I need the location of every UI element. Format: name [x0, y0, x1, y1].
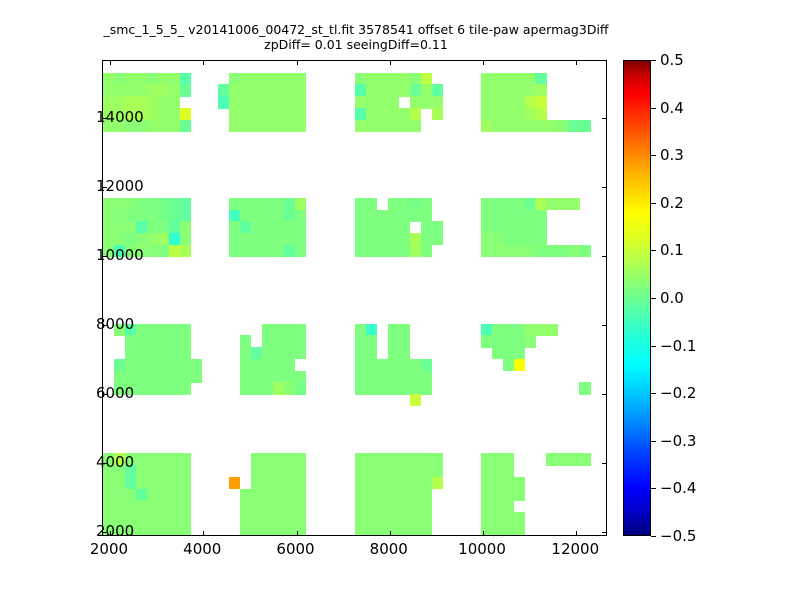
heatmap-cell [377, 359, 389, 371]
heatmap-cell [421, 210, 433, 222]
heatmap-cell [535, 120, 547, 132]
heatmap-cell [388, 477, 400, 489]
heatmap-cell [284, 324, 296, 336]
heatmap-cell [366, 73, 378, 85]
heatmap-cell [492, 73, 504, 85]
heatmap-cell [136, 477, 148, 489]
heatmap-cell [399, 371, 411, 383]
heatmap-cell [169, 524, 181, 536]
heatmap-cell [568, 120, 580, 132]
heatmap-cell [388, 120, 400, 132]
heatmap-cell [262, 210, 274, 222]
heatmap-cell [147, 477, 159, 489]
heatmap-cell [355, 359, 367, 371]
heatmap-cell [503, 347, 515, 359]
heatmap-cell [355, 233, 367, 245]
heatmap-cell [136, 465, 148, 477]
heatmap-cell [421, 221, 433, 233]
heatmap-cell [136, 489, 148, 501]
heatmap-cell [366, 347, 378, 359]
heatmap-cell [136, 84, 148, 96]
heatmap-cell [492, 84, 504, 96]
heatmap-cell [492, 96, 504, 108]
heatmap-cell [147, 371, 159, 383]
heatmap-cell [481, 489, 493, 501]
heatmap-cell [229, 84, 241, 96]
heatmap-cell [169, 359, 181, 371]
heatmap-cell [284, 198, 296, 210]
y-axis-tick [602, 256, 606, 257]
heatmap-cell [399, 245, 411, 257]
heatmap-cell [503, 73, 515, 85]
heatmap-cell [158, 465, 170, 477]
heatmap-cell [284, 524, 296, 536]
heatmap-cell [410, 210, 422, 222]
colorbar-tick-label: −0.4 [660, 479, 696, 497]
heatmap-cell [158, 96, 170, 108]
heatmap-cell [355, 84, 367, 96]
heatmap-cell [399, 382, 411, 394]
heatmap-cell [284, 84, 296, 96]
heatmap-cell [158, 84, 170, 96]
heatmap-cell [492, 198, 504, 210]
heatmap-cell [295, 453, 307, 465]
heatmap-cell [284, 382, 296, 394]
heatmap-cell [273, 347, 285, 359]
heatmap-cell [180, 108, 192, 120]
heatmap-cell [399, 108, 411, 120]
heatmap-cell [355, 524, 367, 536]
x-axis-tick-label: 2000 [90, 540, 128, 558]
heatmap-cell [377, 500, 389, 512]
heatmap-cell [514, 233, 526, 245]
colorbar-tick [651, 155, 656, 156]
heatmap-cell [284, 120, 296, 132]
heatmap-cell [377, 221, 389, 233]
heatmap-cell [355, 477, 367, 489]
heatmap-cell [388, 96, 400, 108]
heatmap-cell [481, 500, 493, 512]
heatmap-cell [251, 120, 263, 132]
heatmap-cell [355, 245, 367, 257]
heatmap-cell [180, 210, 192, 222]
heatmap-cell [492, 233, 504, 245]
heatmap-cell [410, 477, 422, 489]
heatmap-cell [514, 489, 526, 501]
heatmap-cell [503, 96, 515, 108]
heatmap-cell [229, 108, 241, 120]
heatmap-cell [262, 324, 274, 336]
colorbar-tick [651, 250, 656, 251]
heatmap-cell [535, 96, 547, 108]
heatmap-cell [229, 477, 241, 489]
heatmap-cell [240, 512, 252, 524]
heatmap-cell [366, 324, 378, 336]
heatmap-cell [525, 335, 537, 347]
heatmap-cell [295, 489, 307, 501]
x-axis-tick [576, 531, 577, 535]
heatmap-cell [136, 335, 148, 347]
colorbar-tick-label: 0.2 [660, 194, 684, 212]
heatmap-cell [366, 477, 378, 489]
heatmap-cell [355, 73, 367, 85]
heatmap-cell [251, 477, 263, 489]
heatmap-cell [388, 108, 400, 120]
heatmap-cell [514, 477, 526, 489]
heatmap-cell [432, 233, 444, 245]
heatmap-cell [229, 120, 241, 132]
colorbar-tick-label: −0.5 [660, 527, 696, 545]
heatmap-cell [262, 233, 274, 245]
heatmap-cell [399, 500, 411, 512]
heatmap-cell [240, 221, 252, 233]
x-axis-tick [297, 61, 298, 65]
x-axis-tick-label: 10000 [458, 540, 506, 558]
heatmap-cell [503, 324, 515, 336]
heatmap-cell [147, 73, 159, 85]
heatmap-cell [125, 233, 137, 245]
heatmap-cell [147, 465, 159, 477]
heatmap-cell [284, 371, 296, 383]
heatmap-cell [568, 198, 580, 210]
heatmap-cell [421, 198, 433, 210]
heatmap-cell [366, 233, 378, 245]
heatmap-cell [251, 245, 263, 257]
heatmap-cell [240, 73, 252, 85]
heatmap-cell [568, 453, 580, 465]
heatmap-cell [399, 465, 411, 477]
heatmap-cell [492, 512, 504, 524]
heatmap-cell [147, 233, 159, 245]
heatmap-cell [284, 359, 296, 371]
heatmap-cell [262, 382, 274, 394]
heatmap-cell [103, 233, 115, 245]
heatmap-cell [481, 245, 493, 257]
heatmap-cell [251, 371, 263, 383]
heatmap-cell [251, 108, 263, 120]
colorbar-tick-label: −0.1 [660, 337, 696, 355]
heatmap-cell [114, 371, 126, 383]
colorbar-tick [651, 108, 656, 109]
heatmap-cell [388, 359, 400, 371]
heatmap-cell [388, 512, 400, 524]
heatmap-cell [377, 84, 389, 96]
heatmap-cell [218, 96, 230, 108]
heatmap-cell [147, 347, 159, 359]
heatmap-cell [147, 120, 159, 132]
heatmap-cell [147, 453, 159, 465]
heatmap-cell [158, 347, 170, 359]
heatmap-cell [492, 500, 504, 512]
heatmap-axes [102, 60, 607, 536]
colorbar: −0.5−0.4−0.3−0.2−0.10.00.10.20.30.40.5 [623, 60, 651, 536]
heatmap-cell [525, 108, 537, 120]
colorbar-tick [651, 536, 656, 537]
heatmap-cell [169, 108, 181, 120]
heatmap-cell [399, 198, 411, 210]
heatmap-cell [191, 371, 203, 383]
heatmap-cell [240, 382, 252, 394]
heatmap-cell [169, 335, 181, 347]
heatmap-cell [295, 108, 307, 120]
heatmap-cell [125, 489, 137, 501]
heatmap-cell [180, 489, 192, 501]
heatmap-cell [525, 96, 537, 108]
heatmap-cell [535, 245, 547, 257]
heatmap-cell [273, 524, 285, 536]
heatmap-cell [136, 512, 148, 524]
heatmap-cell [355, 500, 367, 512]
heatmap-cell [169, 477, 181, 489]
heatmap-cell [503, 245, 515, 257]
heatmap-cell [229, 73, 241, 85]
heatmap-cell [514, 512, 526, 524]
heatmap-cell [366, 453, 378, 465]
heatmap-cell [284, 233, 296, 245]
heatmap-cell [503, 84, 515, 96]
heatmap-cell [136, 359, 148, 371]
heatmap-cell [273, 96, 285, 108]
heatmap-cell [421, 477, 433, 489]
heatmap-cell [125, 477, 137, 489]
heatmap-cell [180, 73, 192, 85]
colorbar-tick [651, 346, 656, 347]
heatmap-cell [410, 500, 422, 512]
heatmap-cell [481, 198, 493, 210]
heatmap-cell [273, 500, 285, 512]
heatmap-cell [355, 347, 367, 359]
heatmap-cell [295, 324, 307, 336]
heatmap-cell [503, 512, 515, 524]
heatmap-cell [568, 245, 580, 257]
heatmap-cell [262, 96, 274, 108]
heatmap-cell [366, 465, 378, 477]
heatmap-cell [169, 382, 181, 394]
heatmap-cell [514, 347, 526, 359]
heatmap-cell [273, 477, 285, 489]
heatmap-cell [421, 524, 433, 536]
heatmap-cell [481, 73, 493, 85]
heatmap-cell [229, 96, 241, 108]
heatmap-cell [158, 489, 170, 501]
heatmap-cell [125, 359, 137, 371]
heatmap-cell [525, 73, 537, 85]
heatmap-cell [136, 347, 148, 359]
heatmap-cell [557, 120, 569, 132]
heatmap-cell [125, 347, 137, 359]
heatmap-cell [229, 221, 241, 233]
heatmap-cell [355, 96, 367, 108]
heatmap-cell [546, 120, 558, 132]
heatmap-cell [180, 500, 192, 512]
heatmap-cell [114, 210, 126, 222]
heatmap-cell [114, 73, 126, 85]
heatmap-cell [180, 371, 192, 383]
heatmap-cell [262, 477, 274, 489]
heatmap-cell [251, 465, 263, 477]
heatmap-cell [180, 84, 192, 96]
heatmap-cell [481, 120, 493, 132]
heatmap-cell [218, 84, 230, 96]
x-axis-tick [297, 531, 298, 535]
heatmap-cell [125, 210, 137, 222]
heatmap-cell [240, 120, 252, 132]
heatmap-cell [503, 500, 515, 512]
heatmap-cell [251, 359, 263, 371]
heatmap-cell [240, 84, 252, 96]
heatmap-cell [481, 477, 493, 489]
heatmap-cell [273, 382, 285, 394]
heatmap-cell [377, 210, 389, 222]
heatmap-cell [262, 453, 274, 465]
heatmap-cell [169, 233, 181, 245]
heatmap-cell [366, 359, 378, 371]
heatmap-cell [158, 120, 170, 132]
heatmap-cell [514, 324, 526, 336]
heatmap-cell [377, 245, 389, 257]
heatmap-cell [410, 394, 422, 406]
heatmap-cell [503, 198, 515, 210]
heatmap-cell [355, 120, 367, 132]
heatmap-cell [295, 500, 307, 512]
heatmap-cell [503, 477, 515, 489]
heatmap-cell [492, 347, 504, 359]
heatmap-cell [169, 84, 181, 96]
heatmap-cell [579, 120, 591, 132]
heatmap-cell [410, 382, 422, 394]
heatmap-cell [503, 233, 515, 245]
heatmap-cell [251, 210, 263, 222]
heatmap-cell [125, 500, 137, 512]
heatmap-cell [377, 233, 389, 245]
x-axis-tick [203, 61, 204, 65]
y-axis-tick [602, 532, 606, 533]
heatmap-cell [399, 489, 411, 501]
heatmap-cell [388, 453, 400, 465]
heatmap-cell [503, 465, 515, 477]
heatmap-cell [421, 233, 433, 245]
heatmap-cell [421, 489, 433, 501]
heatmap-cell [180, 324, 192, 336]
heatmap-cell [377, 108, 389, 120]
heatmap-cell [399, 210, 411, 222]
heatmap-cell [295, 73, 307, 85]
heatmap-cell [481, 233, 493, 245]
heatmap-cell [240, 210, 252, 222]
heatmap-cell [355, 489, 367, 501]
x-axis-tick [390, 531, 391, 535]
heatmap-cell [273, 108, 285, 120]
heatmap-cell [125, 335, 137, 347]
heatmap-cell [535, 108, 547, 120]
x-axis-tick [390, 61, 391, 65]
heatmap-cell [191, 359, 203, 371]
heatmap-cell [103, 221, 115, 233]
heatmap-cell [432, 108, 444, 120]
heatmap-cell [492, 489, 504, 501]
y-axis-tick [602, 325, 606, 326]
heatmap-cell [180, 335, 192, 347]
heatmap-cell [355, 210, 367, 222]
heatmap-cell [492, 245, 504, 257]
heatmap-cell [169, 198, 181, 210]
heatmap-cell [410, 120, 422, 132]
heatmap-cell [399, 335, 411, 347]
heatmap-cell [355, 221, 367, 233]
heatmap-cell [251, 233, 263, 245]
heatmap-cell [136, 371, 148, 383]
heatmap-cell [180, 524, 192, 536]
heatmap-cell [273, 233, 285, 245]
heatmap-cell [525, 84, 537, 96]
heatmap-cell [535, 221, 547, 233]
heatmap-cell [273, 324, 285, 336]
heatmap-cell [103, 73, 115, 85]
heatmap-cell [432, 465, 444, 477]
x-axis-tick [576, 61, 577, 65]
heatmap-cell [366, 500, 378, 512]
heatmap-cell [158, 73, 170, 85]
heatmap-cell [295, 84, 307, 96]
heatmap-cell [240, 489, 252, 501]
heatmap-cell [284, 221, 296, 233]
heatmap-cell [514, 198, 526, 210]
heatmap-cell [481, 84, 493, 96]
heatmap-cell [169, 245, 181, 257]
heatmap-cell [251, 84, 263, 96]
colorbar-tick-label: 0.3 [660, 146, 684, 164]
heatmap-cell [180, 359, 192, 371]
heatmap-cell [180, 233, 192, 245]
heatmap-cell [399, 453, 411, 465]
x-axis-tick-label: 8000 [370, 540, 408, 558]
heatmap-cell [481, 221, 493, 233]
colorbar-tick [651, 488, 656, 489]
heatmap-cell [421, 371, 433, 383]
heatmap-cell [169, 73, 181, 85]
heatmap-cell [579, 245, 591, 257]
heatmap-cell [492, 324, 504, 336]
heatmap-cell [273, 120, 285, 132]
heatmap-cell [399, 477, 411, 489]
heatmap-cell [546, 245, 558, 257]
heatmap-cell [114, 359, 126, 371]
heatmap-cell [229, 245, 241, 257]
heatmap-cell [557, 453, 569, 465]
heatmap-cell [366, 120, 378, 132]
heatmap-cell [355, 453, 367, 465]
heatmap-cell [525, 120, 537, 132]
heatmap-cell [103, 84, 115, 96]
heatmap-cell [158, 477, 170, 489]
x-axis-tick-label: 4000 [183, 540, 221, 558]
heatmap-cell [481, 108, 493, 120]
heatmap-cell [366, 512, 378, 524]
heatmap-cell [240, 500, 252, 512]
heatmap-cell [103, 198, 115, 210]
heatmap-cell [169, 371, 181, 383]
heatmap-cell [158, 221, 170, 233]
heatmap-cell [432, 221, 444, 233]
heatmap-cell [377, 477, 389, 489]
heatmap-cells-layer [103, 61, 606, 535]
heatmap-cell [295, 221, 307, 233]
heatmap-cell [251, 347, 263, 359]
heatmap-cell [103, 210, 115, 222]
heatmap-cell [492, 524, 504, 536]
heatmap-cell [503, 453, 515, 465]
heatmap-cell [295, 210, 307, 222]
